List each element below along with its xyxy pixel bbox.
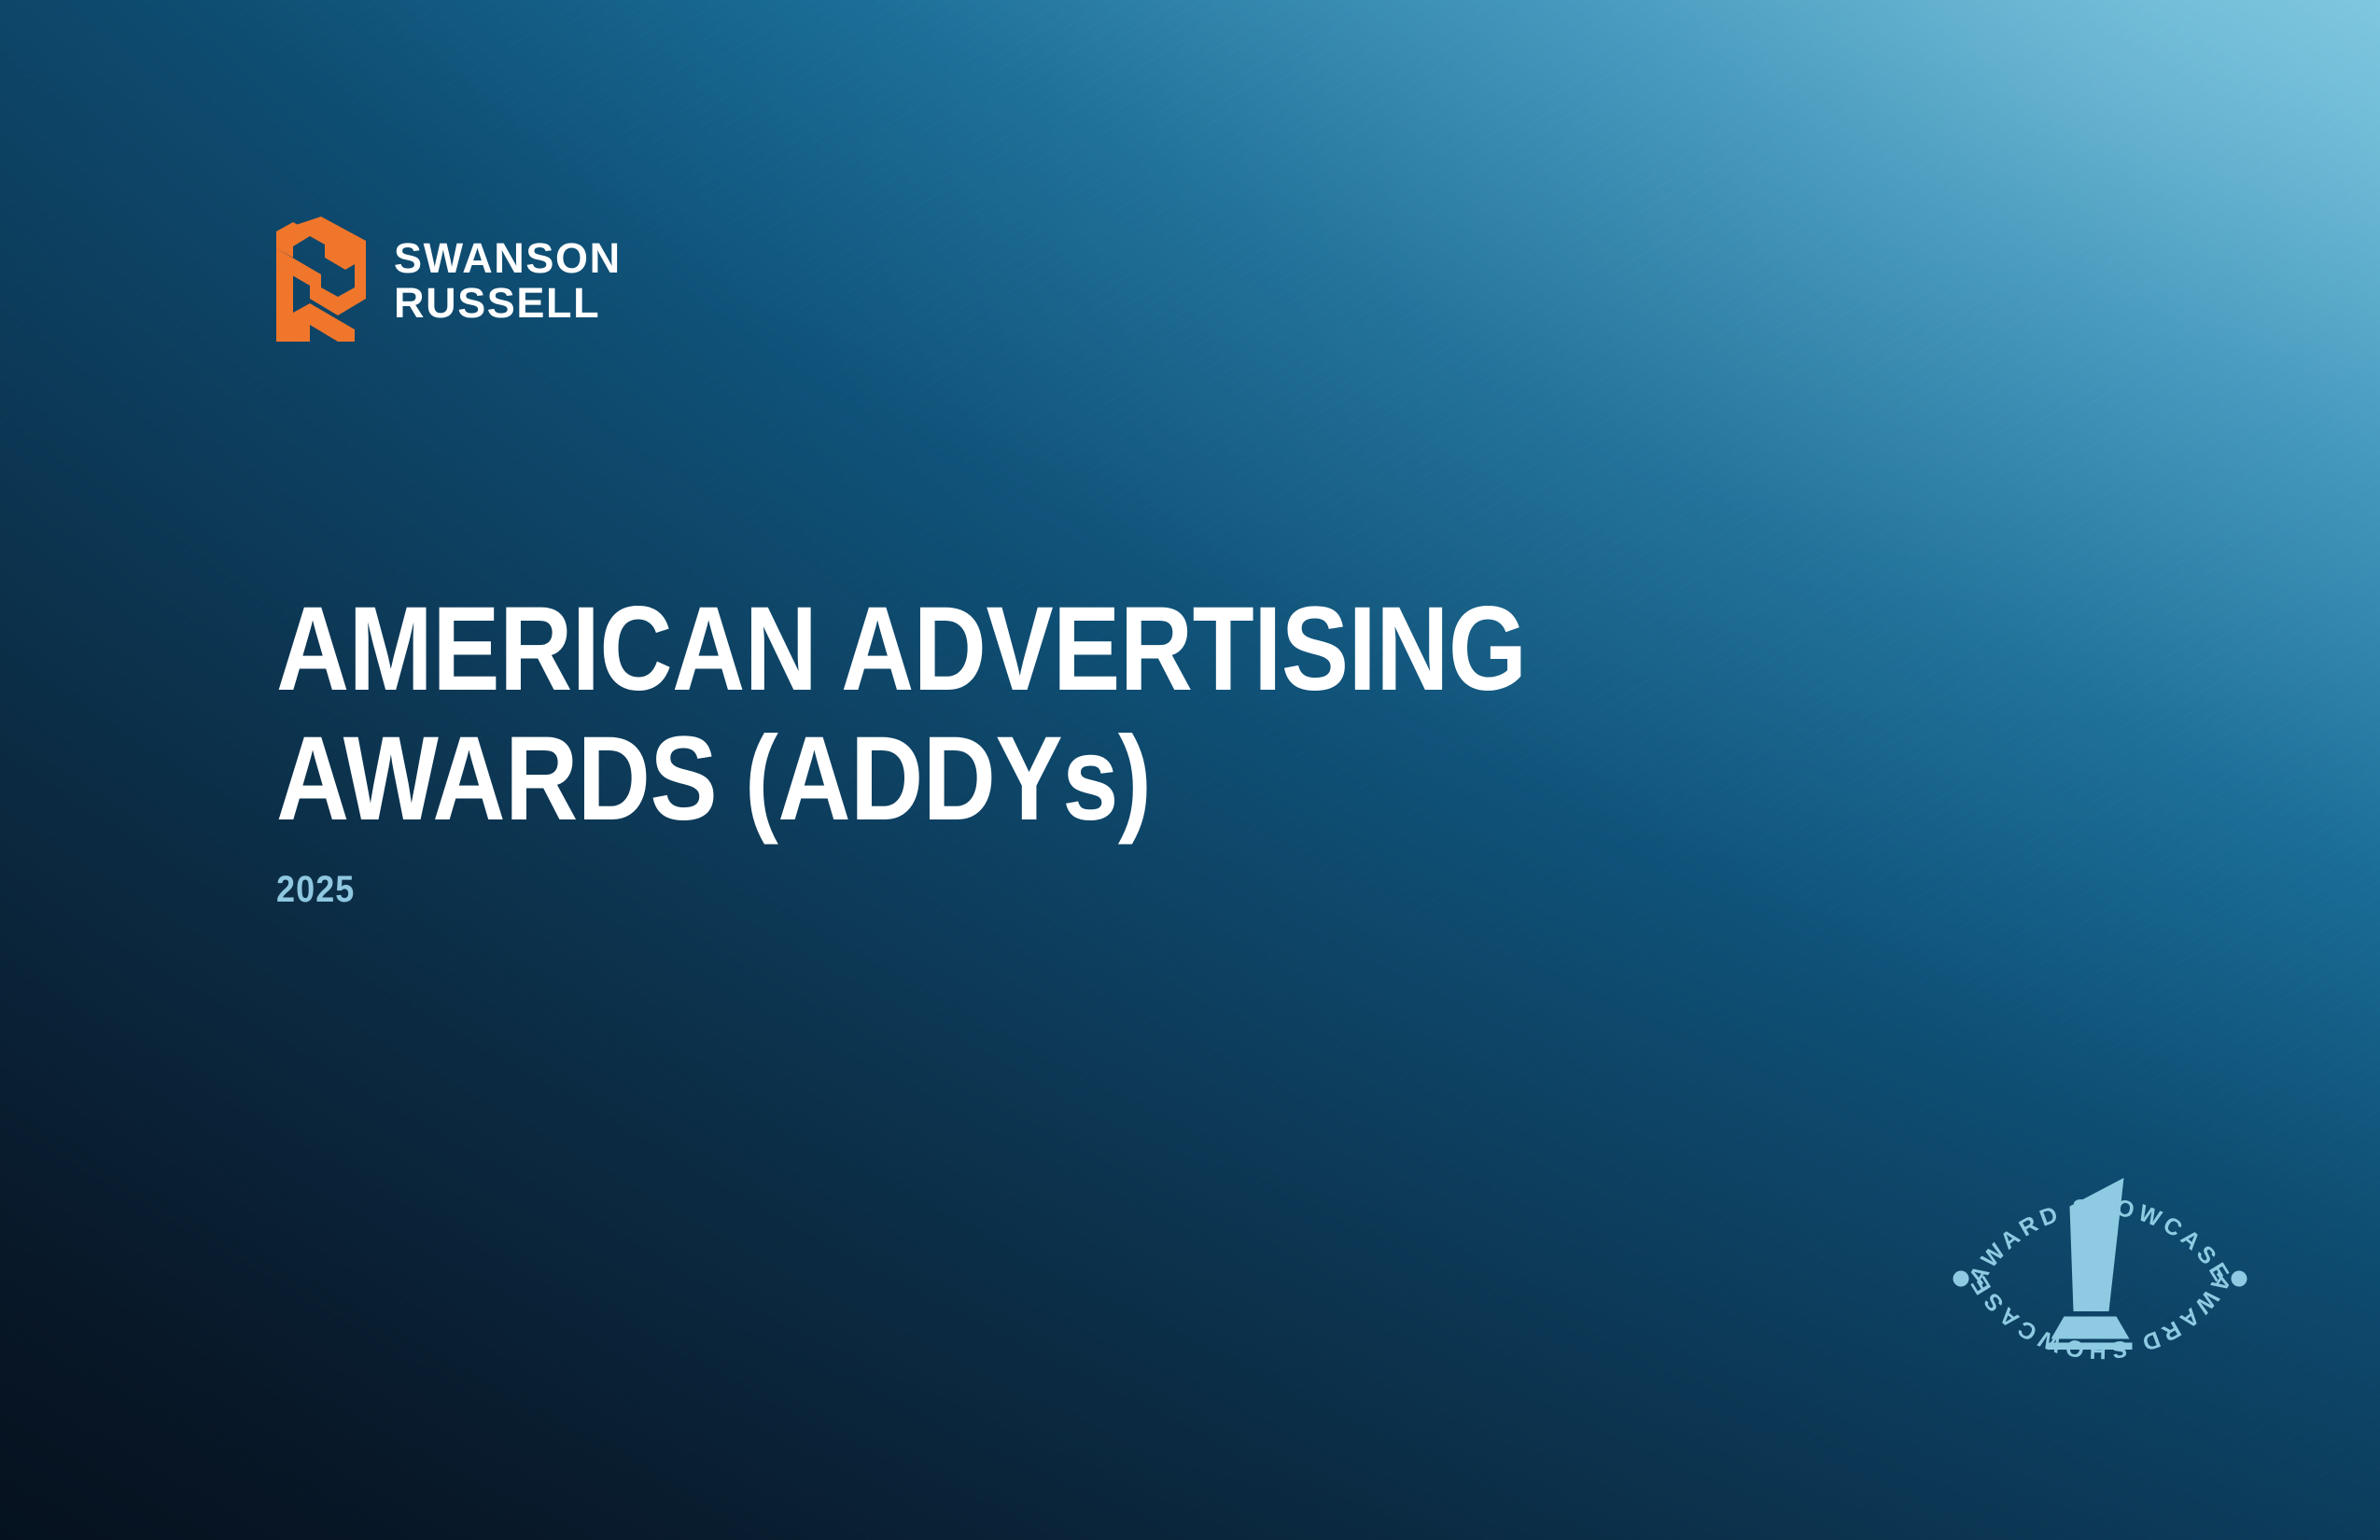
brand-wordmark: SWANSON RUSSELL (394, 232, 622, 326)
headline-block: AMERICAN ADVERTISING AWARDS (ADDYs) 2025 (276, 585, 1756, 911)
headline-line-1: AMERICAN ADVERTISING (276, 585, 1527, 715)
headline-line-2: AWARDS (ADDYs) (276, 715, 1527, 845)
headline-year: 2025 (276, 869, 1608, 911)
badge-dot-left-icon (1953, 1271, 1969, 1287)
swanson-russell-sr-monogram-icon (276, 217, 366, 342)
award-showcase-badge-graphic: AWARD SHOWCASE AWARD SHOWCASE (1939, 1118, 2261, 1439)
badge-dot-right-icon (2232, 1271, 2247, 1287)
award-showcase-badge: AWARD SHOWCASE AWARD SHOWCASE (1939, 1118, 2261, 1439)
wordmark-line-swanson: SWANSON (394, 236, 622, 281)
brand-logo-lockup[interactable]: SWANSON RUSSELL (276, 217, 622, 342)
wordmark-line-russell: RUSSELL (394, 281, 622, 326)
title-slide: SWANSON RUSSELL AMERICAN ADVERTISING AWA… (0, 0, 2380, 1540)
